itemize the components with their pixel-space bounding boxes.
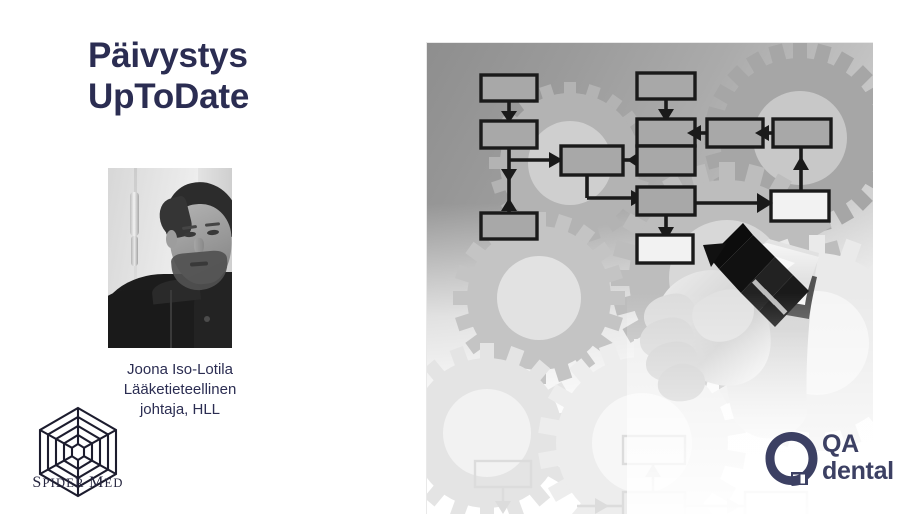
speaker-name: Joona Iso-Lotila	[80, 360, 280, 380]
q-ring-icon	[762, 430, 822, 492]
title-line-1: Päivystys	[88, 36, 248, 75]
portrait-ear	[166, 230, 177, 248]
page-title: Päivystys UpToDate	[88, 36, 388, 118]
portrait-zipper	[170, 290, 172, 348]
title-line-2: UpToDate	[88, 77, 388, 118]
portrait-button	[204, 316, 210, 322]
photo-door-handle	[130, 192, 139, 236]
speaker-photo	[108, 168, 232, 348]
photo-door-handle-lower	[131, 236, 138, 266]
speaker-role-line-1: Lääketieteellinen	[80, 380, 280, 400]
portrait-illustration	[108, 168, 232, 348]
spider-med-wordmark: SPIDER MED	[14, 474, 142, 492]
presentation-slide: Päivystys UpToDate	[0, 0, 912, 513]
qa-dental-wordmark: QA dental	[822, 432, 894, 485]
qa-logo-line-2: dental	[822, 458, 894, 485]
qa-logo-line-1: QA	[822, 432, 894, 458]
